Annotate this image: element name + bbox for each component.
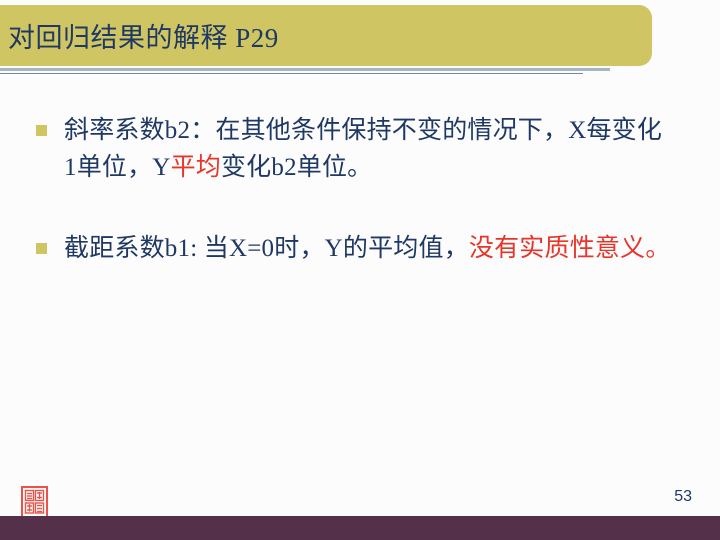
bullet-2-segment-1: 截距系数b1: 当X=0时，Y的平均值， [64,235,469,262]
bullet-2-emphasis: 没有实质性意义 [469,235,645,262]
bullet-2-segment-3: 。 [645,235,670,262]
red-seal-stamp-icon [21,486,48,518]
square-bullet-icon [36,125,47,136]
title-divider-thick [0,68,610,71]
square-bullet-icon [36,243,47,254]
page-title: 对回归结果的解释 P29 [8,21,638,55]
list-item: 斜率系数b2：在其他条件保持不变的情况下，X每变化1单位，Y平均变化b2单位。 [34,112,674,186]
bullet-list: 斜率系数b2：在其他条件保持不变的情况下，X每变化1单位，Y平均变化b2单位。 … [34,112,674,267]
bullet-1-emphasis: 平均 [171,154,221,181]
bullet-text-2: 截距系数b1: 当X=0时，Y的平均值，没有实质性意义。 [64,230,674,267]
bullet-text-1: 斜率系数b2：在其他条件保持不变的情况下，X每变化1单位，Y平均变化b2单位。 [64,112,674,186]
page-number: 53 [674,487,692,507]
title-banner: 对回归结果的解释 P29 [0,5,652,66]
title-divider-thin [0,73,583,74]
bullet-1-segment-3: 变化b2单位。 [221,154,372,181]
list-item: 截距系数b1: 当X=0时，Y的平均值，没有实质性意义。 [34,230,674,267]
slide-canvas: 对回归结果的解释 P29 斜率系数b2：在其他条件保持不变的情况下，X每变化1单… [0,0,720,540]
footer-bar [0,516,720,540]
